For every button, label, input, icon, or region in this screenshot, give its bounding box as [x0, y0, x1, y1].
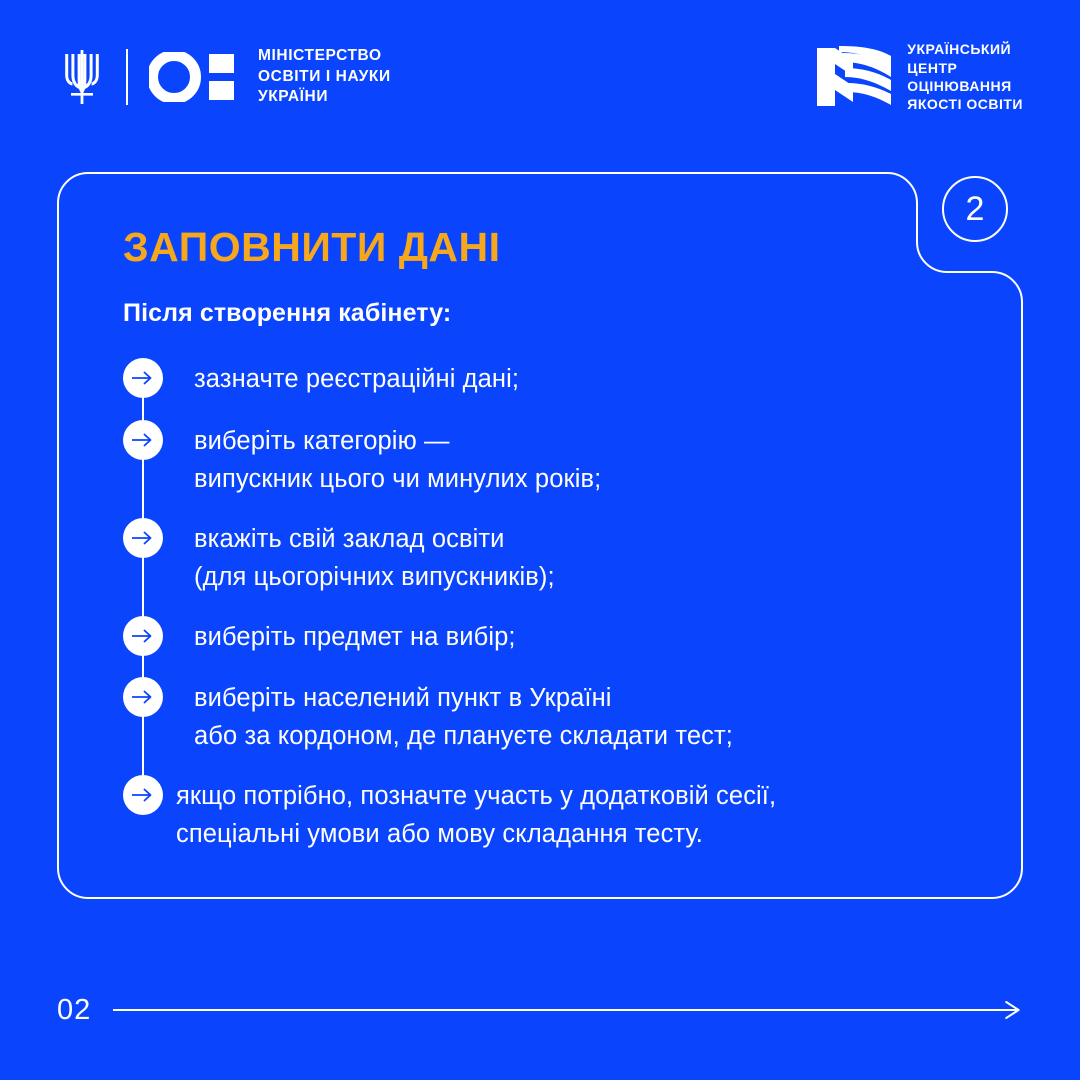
step-card: 2 ЗАПОВНИТИ ДАНІ Після створення кабінет… — [57, 172, 1023, 899]
ministry-logo: МІНІСТЕРСТВО ОСВІТИ І НАУКИ УКРАЇНИ — [60, 46, 391, 108]
list-item-text: виберіть категорію — випускник цього чи … — [194, 420, 601, 498]
ucoqo-logo-line1: УКРАЇНСЬКИЙ — [907, 40, 1023, 58]
page-header: МІНІСТЕРСТВО ОСВІТИ І НАУКИ УКРАЇНИ УКРА… — [0, 0, 1080, 150]
list-item-text: якщо потрібно, позначте участь у додатко… — [176, 775, 776, 853]
list-item-text: виберіть населений пункт в Україні або з… — [194, 677, 733, 755]
ucoqo-open-book-icon — [815, 44, 893, 110]
list-item: виберіть предмет на вибір; — [123, 616, 983, 677]
list-item: виберіть населений пункт в Україні або з… — [123, 677, 983, 775]
ministry-logo-text: МІНІСТЕРСТВО ОСВІТИ І НАУКИ УКРАЇНИ — [258, 46, 391, 108]
arrow-right-icon — [123, 358, 163, 398]
arrow-right-icon — [123, 518, 163, 558]
ukraine-trident-icon — [60, 48, 104, 106]
list-item: зазначте реєстраційні дані; — [123, 358, 983, 420]
card-title: ЗАПОВНИТИ ДАНІ — [123, 224, 501, 271]
ministry-logo-line3: УКРАЇНИ — [258, 87, 391, 108]
mon-circle-squares-icon — [149, 52, 241, 102]
ucoqo-logo-line3: ОЦІНЮВАННЯ — [907, 77, 1023, 95]
ucoqo-logo-line4: ЯКОСТІ ОСВІТИ — [907, 95, 1023, 113]
list-item-text: вкажіть свій заклад освіти (для цьогоріч… — [194, 518, 555, 596]
page-footer: 02 — [57, 990, 1023, 1030]
card-subtitle: Після створення кабінету: — [123, 299, 451, 328]
arrow-right-icon — [123, 677, 163, 717]
list-item-text: виберіть предмет на вибір; — [194, 616, 516, 657]
ucoqo-logo-text: УКРАЇНСЬКИЙ ЦЕНТР ОЦІНЮВАННЯ ЯКОСТІ ОСВІ… — [907, 40, 1023, 113]
ucoqo-logo: УКРАЇНСЬКИЙ ЦЕНТР ОЦІНЮВАННЯ ЯКОСТІ ОСВІ… — [815, 44, 1023, 110]
ministry-logo-line1: МІНІСТЕРСТВО — [258, 46, 391, 67]
arrow-right-icon — [123, 420, 163, 460]
arrow-right-icon — [123, 616, 163, 656]
list-item: якщо потрібно, позначте участь у додатко… — [123, 775, 983, 853]
right-arrow-rule-icon — [113, 1000, 1023, 1020]
steps-list: зазначте реєстраційні дані; виберіть кат… — [123, 358, 983, 853]
page-number: 02 — [57, 994, 91, 1027]
list-item: вкажіть свій заклад освіти (для цьогоріч… — [123, 518, 983, 616]
arrow-right-icon — [123, 775, 163, 815]
logo-divider — [126, 49, 128, 105]
list-item-text: зазначте реєстраційні дані; — [194, 358, 519, 399]
ucoqo-logo-line2: ЦЕНТР — [907, 59, 1023, 77]
list-item: виберіть категорію — випускник цього чи … — [123, 420, 983, 518]
ministry-logo-line2: ОСВІТИ І НАУКИ — [258, 67, 391, 88]
